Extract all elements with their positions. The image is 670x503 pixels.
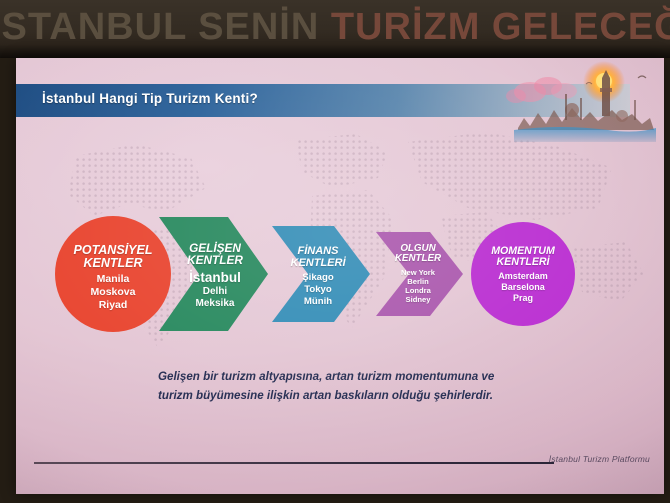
funnel-stage-shapes — [16, 58, 664, 494]
stage-shape-olgun[interactable] — [376, 232, 463, 316]
footer-divider — [34, 462, 554, 464]
caption-line2: turizm büyümesine ilişkin artan baskılar… — [158, 389, 493, 402]
stage-shape-finans[interactable] — [272, 226, 370, 322]
wall-shadow — [0, 44, 670, 58]
wall-banner-text-highlight: TURİZM GELECEĞİN — [331, 6, 670, 48]
wall-banner-text: İSTANBUL SENİN TURİZM GELECEĞİN — [0, 6, 670, 49]
stage-shape-gelisen[interactable] — [159, 217, 268, 331]
caption-line1: Gelişen bir turizm altyapısına, artan tu… — [158, 370, 494, 383]
wall-banner-text-left: İSTANBUL SENİN — [0, 6, 331, 48]
footer-brand: İstanbul Turizm Platformu — [549, 454, 650, 464]
stage-shape-potansiyel[interactable] — [55, 216, 171, 332]
presentation-slide: İstanbul Hangi Tip Turizm Kenti? — [16, 58, 664, 494]
slide-caption: Gelişen bir turizm altyapısına, artan tu… — [158, 368, 558, 406]
stage-shape-momentum[interactable] — [471, 222, 575, 326]
wall-above-screen: İSTANBUL SENİN TURİZM GELECEĞİN — [0, 0, 670, 58]
